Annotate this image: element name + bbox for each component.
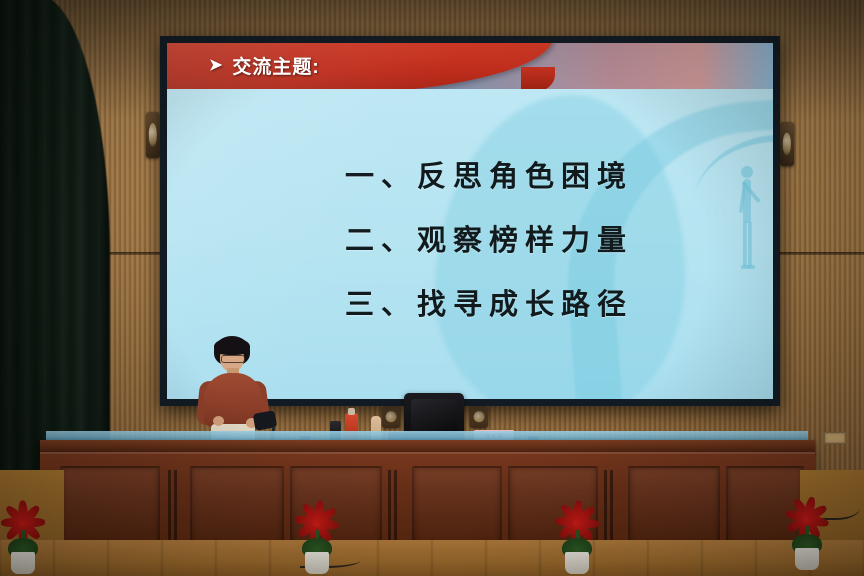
slide-title-text: 交流主题: xyxy=(232,52,319,79)
stage-floor xyxy=(0,540,864,576)
table-panel xyxy=(412,466,502,548)
glasses-icon xyxy=(221,355,245,363)
lecture-hall-scene: ➤ 交流主题: 一、反思角色困境 二、观察榜样力量 三、找寻成长路径 xyxy=(0,0,864,576)
arrow-bullet-icon: ➤ xyxy=(209,58,223,74)
poinsettia-plant xyxy=(548,496,606,574)
plant-pot xyxy=(795,548,819,570)
slide-line-3: 三、找寻成长路径 xyxy=(167,281,773,323)
wall-speaker xyxy=(470,406,488,428)
speaker-cone-icon xyxy=(474,411,485,422)
table-panel xyxy=(190,466,284,548)
poinsettia-plant xyxy=(288,496,346,574)
wall-speaker xyxy=(146,112,160,158)
speaker-cone-icon xyxy=(149,123,157,147)
slide-line-1: 一、反思角色困境 xyxy=(167,153,773,195)
slide-banner-title: ➤ 交流主题: xyxy=(209,52,320,79)
wall-outlet xyxy=(824,432,846,444)
plant-pot xyxy=(565,552,589,574)
table-panel xyxy=(60,466,160,548)
thermos-cap xyxy=(348,408,355,415)
table-panel xyxy=(628,466,720,548)
presenter-fringe xyxy=(214,338,250,355)
monitor-screen xyxy=(411,399,457,433)
slide-line-2: 二、观察榜样力量 xyxy=(167,217,773,259)
speaker-cone-icon xyxy=(386,411,397,422)
wall-speaker xyxy=(382,406,400,428)
slide-body: 一、反思角色困境 二、观察榜样力量 三、找寻成长路径 xyxy=(167,153,773,345)
presenter-left-hand xyxy=(213,416,224,426)
plant-pot xyxy=(11,552,35,574)
speaker-cone-icon xyxy=(783,133,791,156)
plant-pot xyxy=(305,552,329,574)
wall-speaker xyxy=(780,122,794,166)
poinsettia-plant xyxy=(778,492,836,570)
poinsettia-plant xyxy=(0,496,52,574)
